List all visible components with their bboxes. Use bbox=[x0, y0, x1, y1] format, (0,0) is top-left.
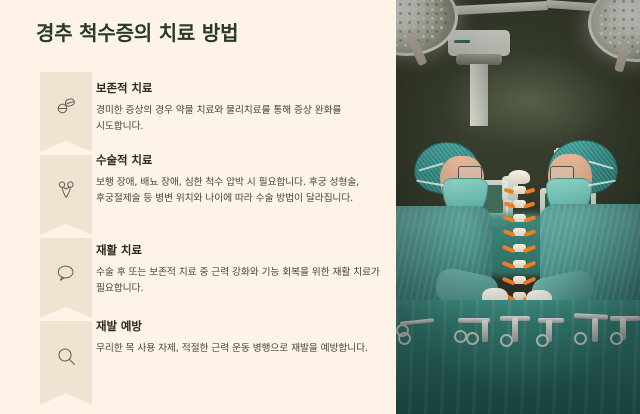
equipment-label bbox=[454, 40, 470, 43]
slide-root: 경추 척수증의 치료 방법 bbox=[0, 0, 640, 414]
ceiling-mount bbox=[448, 30, 510, 56]
instrument-ring bbox=[610, 332, 623, 345]
instrument-ring bbox=[536, 334, 549, 347]
spine-top-vertebra bbox=[508, 170, 530, 184]
item-body: 수술 후 또는 보존적 치료 중 근력 강화와 기능 회복을 위한 재활 치료가… bbox=[96, 265, 382, 297]
item-title: 수술적 치료 bbox=[96, 152, 382, 168]
ribbon-column bbox=[40, 72, 92, 402]
item-body: 경미한 증상의 경우 약물 치료와 물리치료를 통해 증상 완화를 시도합니다. bbox=[96, 103, 382, 135]
page-title: 경추 척수증의 치료 방법 bbox=[36, 17, 238, 46]
ribbon-badge-1 bbox=[40, 72, 92, 152]
item-title: 재발 예방 bbox=[96, 318, 382, 334]
instrument-ring bbox=[500, 334, 513, 347]
instrument-ring bbox=[466, 332, 479, 345]
surgical-instrument bbox=[482, 320, 488, 342]
mount-post bbox=[470, 64, 488, 126]
instrument-ring bbox=[398, 332, 411, 345]
photo-scene bbox=[396, 0, 640, 414]
list-item: 재발 예방 무리한 목 사용 자제, 적절한 근력 운동 병행으로 재발을 예방… bbox=[96, 318, 382, 357]
magnifier-icon bbox=[40, 347, 92, 366]
ambient-glow bbox=[396, 40, 640, 160]
pills-icon bbox=[40, 98, 92, 114]
item-title: 재활 치료 bbox=[96, 242, 382, 258]
ribbon-badge-2 bbox=[40, 155, 92, 235]
lamp-cells bbox=[597, 0, 640, 53]
surgical-instrument bbox=[592, 318, 598, 342]
item-body: 보행 장애, 배뇨 장애, 심한 척수 압박 시 필요합니다. 후궁 성형술, … bbox=[96, 175, 382, 207]
lamp-cells bbox=[396, 0, 449, 47]
ribbon-badge-4 bbox=[40, 321, 92, 405]
ribbon-badge-3 bbox=[40, 238, 92, 318]
item-body: 무리한 목 사용 자제, 적절한 근력 운동 병행으로 재발을 예방합니다. bbox=[96, 341, 382, 357]
instrument-ring bbox=[574, 332, 587, 345]
content-pane: 경추 척수증의 치료 방법 bbox=[0, 0, 396, 414]
list-item: 재활 치료 수술 후 또는 보존적 치료 중 근력 강화와 기능 회복을 위한 … bbox=[96, 242, 382, 297]
list-item: 보존적 치료 경미한 증상의 경우 약물 치료와 물리치료를 통해 증상 완화를… bbox=[96, 80, 382, 135]
list-item: 수술적 치료 보행 장애, 배뇨 장애, 심한 척수 압박 시 필요합니다. 후… bbox=[96, 152, 382, 207]
speech-bubble-icon bbox=[40, 264, 92, 282]
scissors-icon bbox=[40, 181, 92, 199]
operating-room-photo bbox=[396, 0, 640, 414]
item-title: 보존적 치료 bbox=[96, 80, 382, 96]
instrument-ring bbox=[454, 330, 467, 343]
